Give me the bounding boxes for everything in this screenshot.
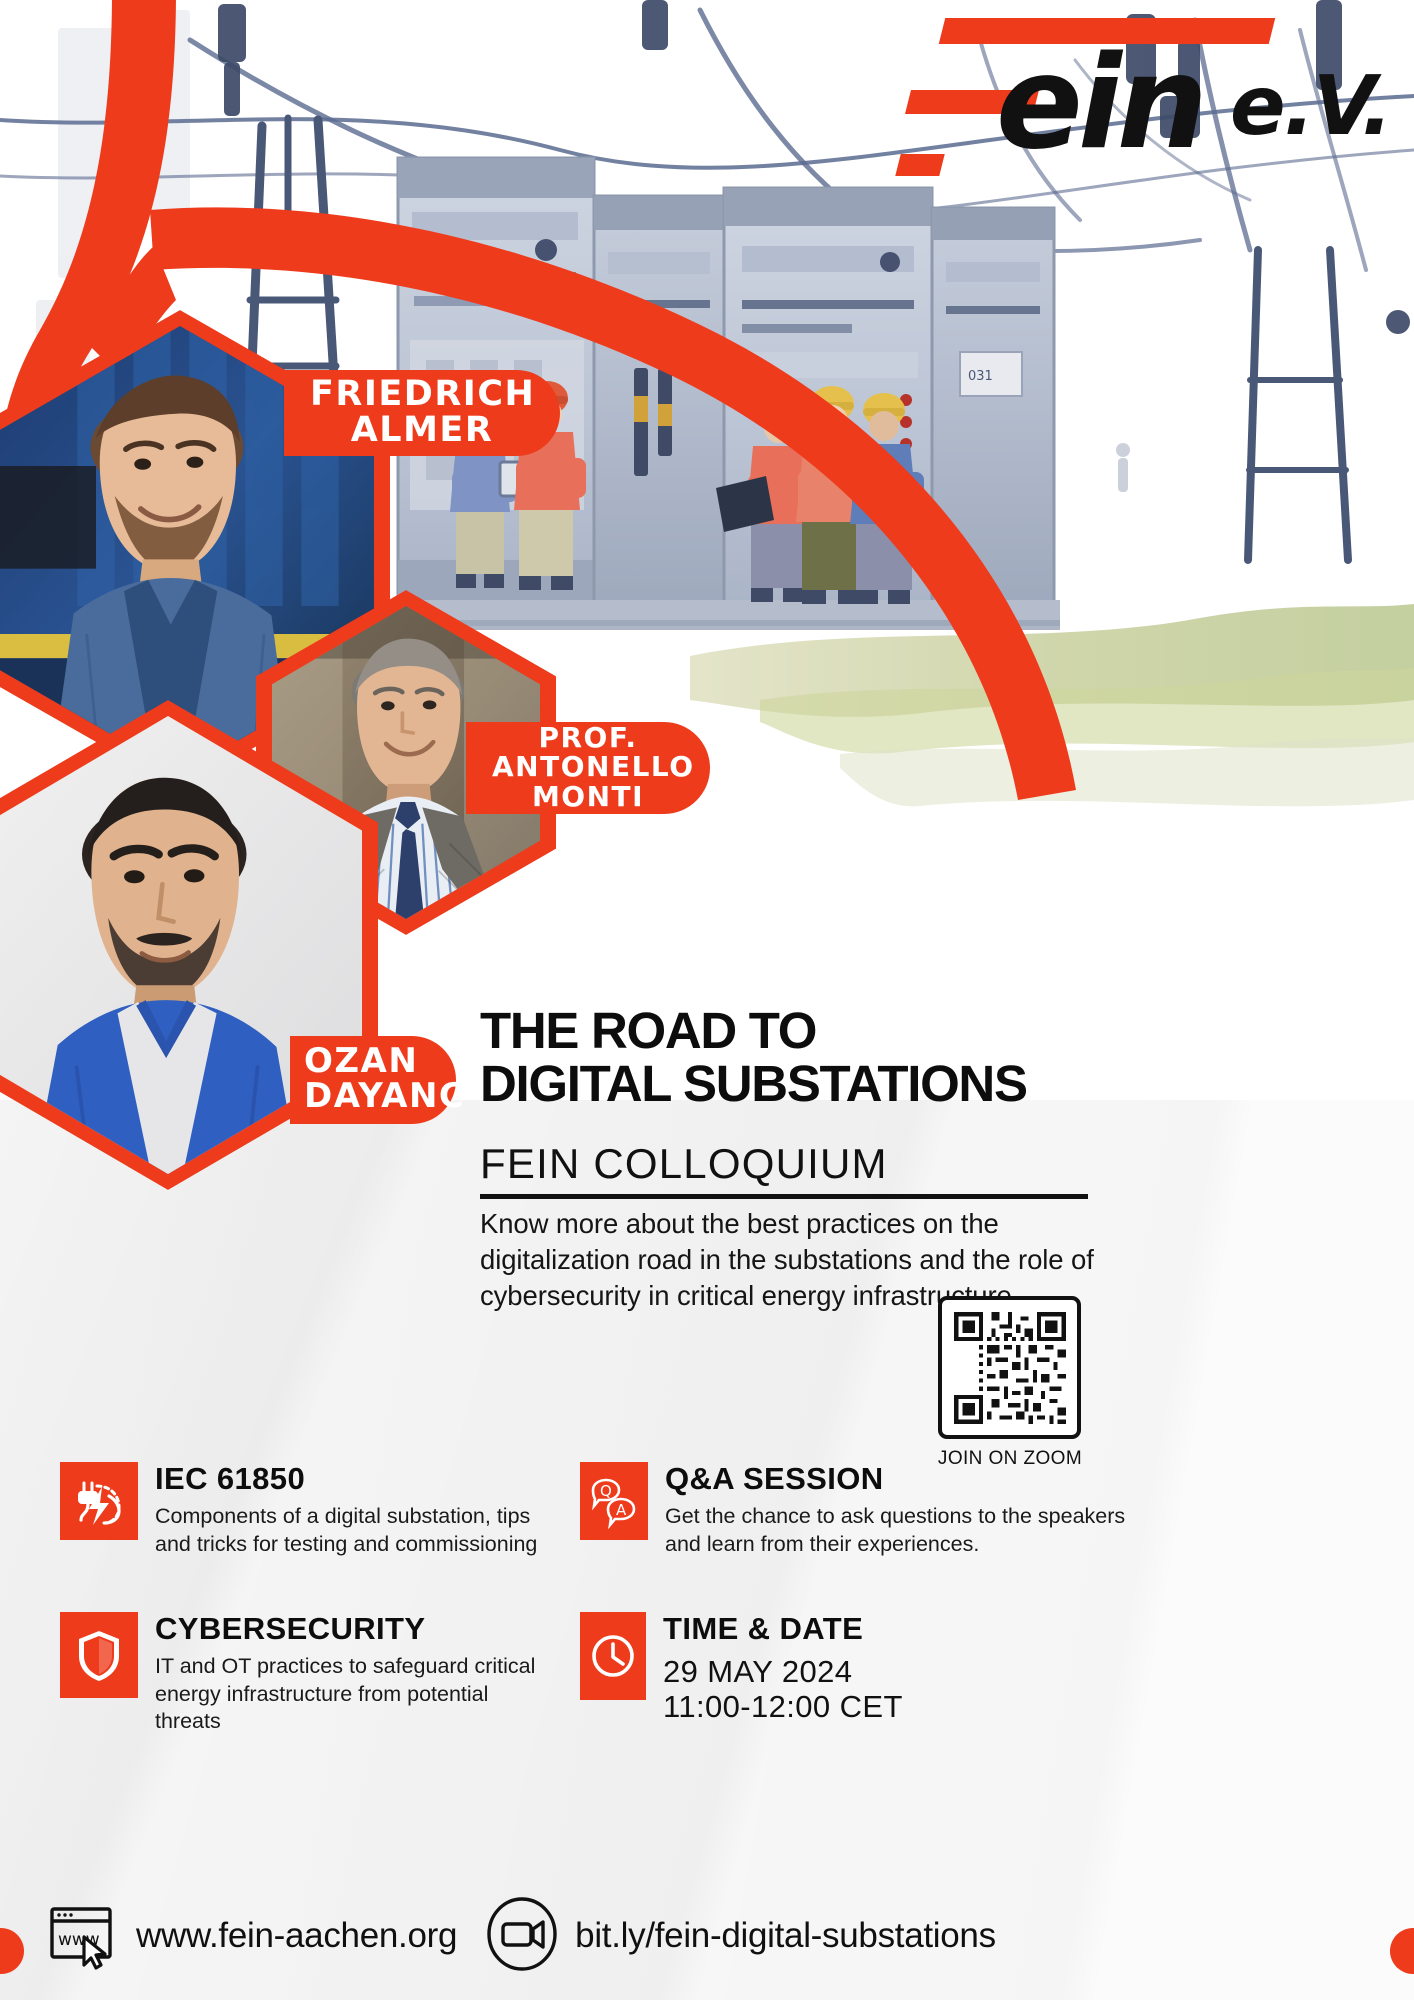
feature-body: TIME & DATE 29 MAY 2024 11:00-12:00 CET — [646, 1612, 903, 1725]
clock-icon — [580, 1612, 646, 1700]
zoom-qr-code[interactable] — [938, 1296, 1081, 1439]
plug-lightning-icon — [60, 1462, 138, 1540]
logo-bar-bottom — [895, 154, 944, 176]
event-subtitle: FEIN COLLOQUIUM — [480, 1140, 1100, 1188]
footer-website[interactable]: www www.fein-aachen.org — [40, 1893, 457, 1980]
feature-body: CYBERSECURITY IT and OT practices to saf… — [138, 1612, 560, 1736]
title-line-2: DIGITAL SUBSTATIONS — [480, 1058, 1100, 1111]
logo-suffix: e.V. — [1230, 66, 1391, 148]
qr-code-label: JOIN ON ZOOM — [920, 1448, 1100, 1470]
speaker-name-line1: OZAN — [304, 1044, 430, 1079]
footer-dot-left — [0, 1928, 24, 1974]
svg-text:A: A — [616, 1501, 627, 1519]
event-poster: 031 — [0, 0, 1414, 2000]
feature-grid: IEC 61850 Components of a digital substa… — [0, 1462, 1414, 1792]
speaker-badge-antonello-monti: PROF. ANTONELLO MONTI — [466, 722, 710, 814]
event-date: 29 MAY 2024 — [663, 1654, 903, 1689]
feature-body: IEC 61850 Components of a digital substa… — [138, 1462, 560, 1558]
speaker-name-line2: DAYANC — [304, 1079, 430, 1114]
fein-logo: ein e.V. — [900, 4, 1400, 169]
speaker-name-line1: FRIEDRICH — [310, 376, 534, 412]
page-title: THE ROAD TO DIGITAL SUBSTATIONS — [480, 1005, 1100, 1110]
feature-title: IEC 61850 — [155, 1462, 560, 1496]
footer-meeting-url[interactable]: bit.ly/fein-digital-substations — [575, 1916, 996, 1956]
feature-qa-session: Q A Q&A SESSION Get the chance to ask qu… — [580, 1462, 1140, 1558]
speaker-badge-friedrich-almer: FRIEDRICH ALMER — [284, 370, 560, 456]
feature-body: Q&A SESSION Get the chance to ask questi… — [648, 1462, 1140, 1558]
speaker-name-line2: MONTI — [492, 782, 684, 811]
speaker-name-line1: ANTONELLO — [492, 752, 684, 781]
logo-wordmark: ein — [996, 40, 1203, 168]
main-text-block: THE ROAD TO DIGITAL SUBSTATIONS FEIN COL… — [480, 1005, 1100, 1313]
feature-time-and-date: TIME & DATE 29 MAY 2024 11:00-12:00 CET — [580, 1612, 1000, 1725]
speaker-title-prefix: PROF. — [492, 723, 684, 752]
browser-www-cursor-icon: www — [40, 1893, 122, 1980]
feature-title: CYBERSECURITY — [155, 1612, 560, 1646]
divider-rule — [480, 1194, 1088, 1199]
feature-description: Get the chance to ask questions to the s… — [665, 1503, 1140, 1558]
feature-description: IT and OT practices to safeguard critica… — [155, 1653, 560, 1736]
qa-speech-bubbles-icon: Q A — [580, 1462, 648, 1540]
speaker-name-line2: ALMER — [310, 412, 534, 448]
footer-website-url[interactable]: www.fein-aachen.org — [136, 1916, 457, 1956]
footer-bar: www www.fein-aachen.org bit.ly/fein-digi… — [0, 1872, 1414, 2000]
footer-meeting-link[interactable]: bit.ly/fein-digital-substations — [483, 1895, 996, 1978]
svg-text:Q: Q — [600, 1482, 612, 1500]
event-time: 11:00-12:00 CET — [663, 1689, 903, 1724]
footer-dot-right — [1390, 1928, 1414, 1974]
feature-cybersecurity: CYBERSECURITY IT and OT practices to saf… — [60, 1612, 560, 1736]
feature-title: TIME & DATE — [663, 1612, 903, 1646]
shield-icon — [60, 1612, 138, 1698]
title-line-1: THE ROAD TO — [480, 1005, 1100, 1058]
video-camera-icon — [483, 1895, 561, 1978]
speaker-badge-ozan-dayanc: OZAN DAYANC — [290, 1036, 456, 1124]
feature-iec-61850: IEC 61850 Components of a digital substa… — [60, 1462, 560, 1558]
feature-description: Components of a digital substation, tips… — [155, 1503, 560, 1558]
